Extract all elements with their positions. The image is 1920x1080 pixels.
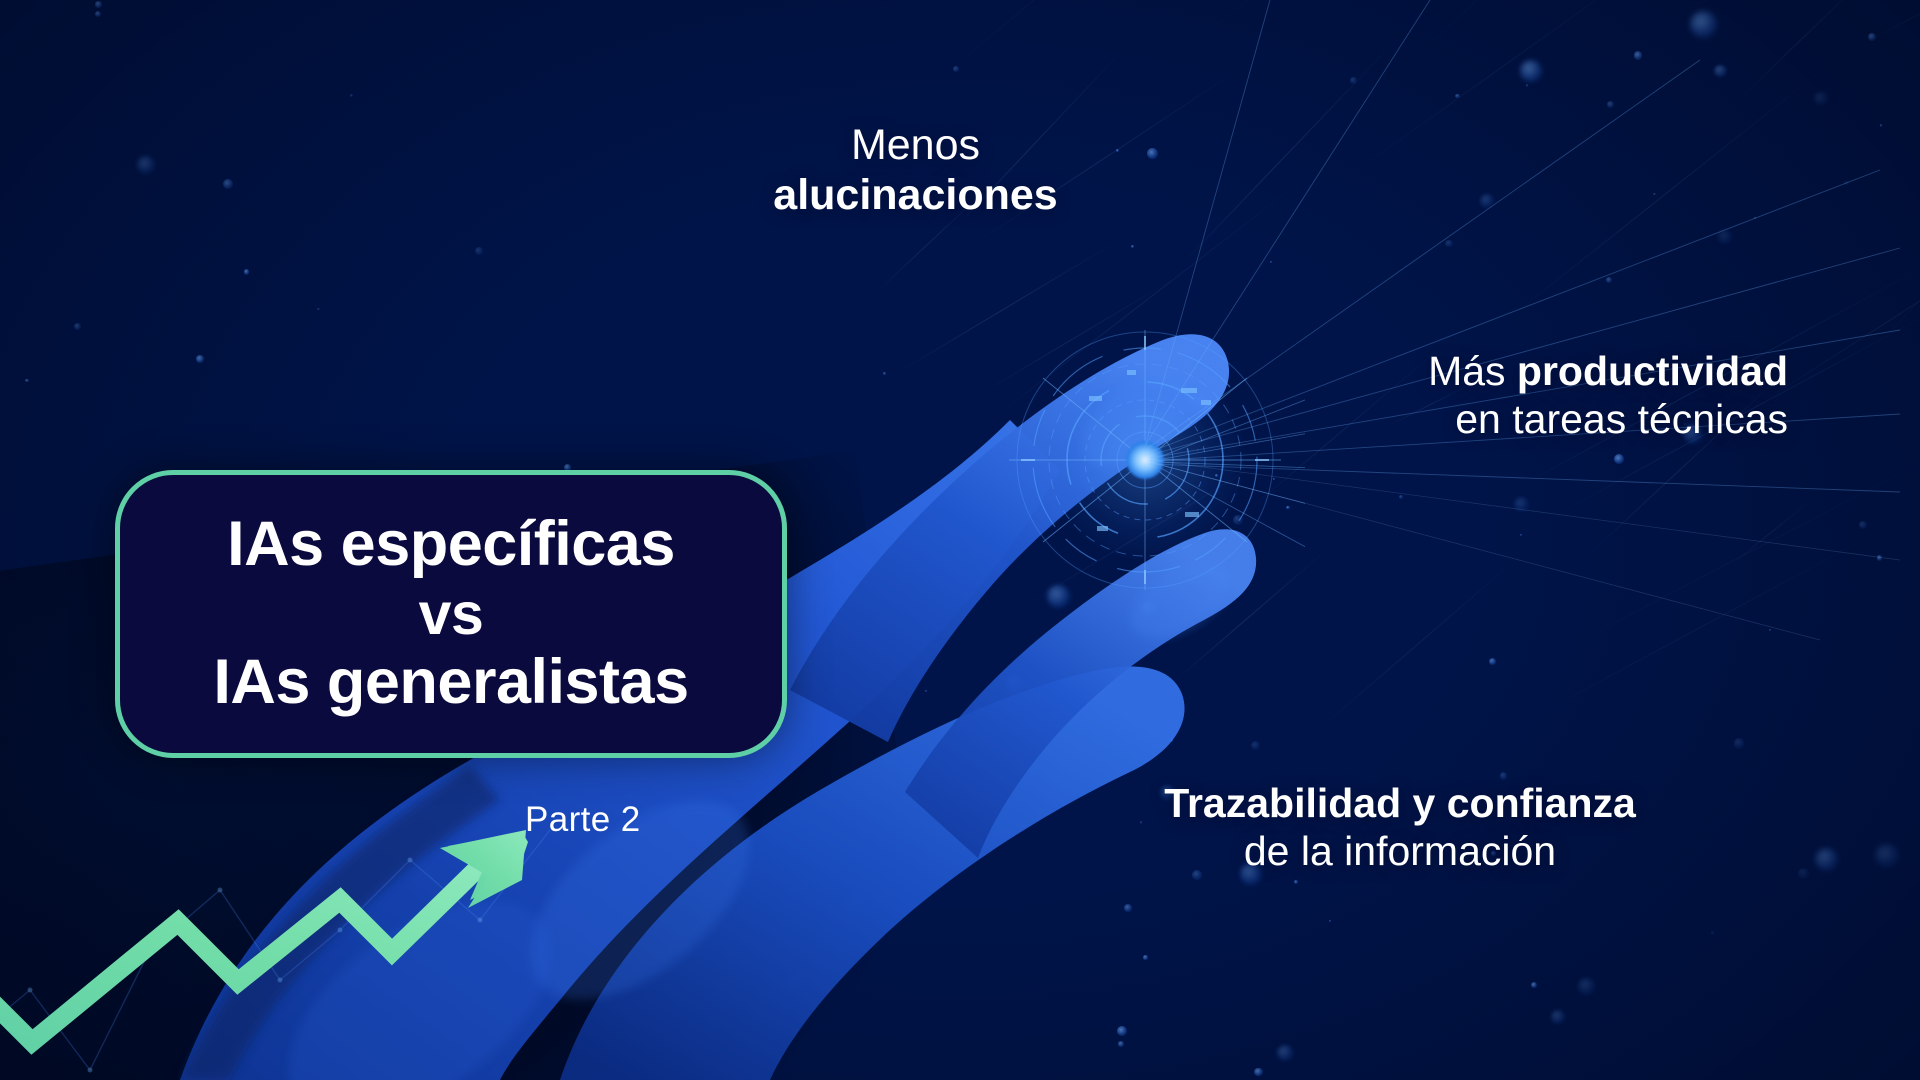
title-line-vs: vs bbox=[213, 581, 688, 648]
callout-productivity-line-2: en tareas técnicas bbox=[1428, 396, 1788, 444]
title-line-3: IAs generalistas bbox=[213, 647, 688, 718]
callout-traceability-line-1: Trazabilidad y confianza bbox=[1100, 780, 1700, 828]
callout-hallucinations-line-1: Menos bbox=[673, 120, 1158, 170]
callout-hallucinations-line-2: alucinaciones bbox=[673, 170, 1158, 220]
title-text-block: IAs específicas vs IAs generalistas bbox=[195, 509, 706, 718]
callout-productivity: Más productividad en tareas técnicas bbox=[1428, 348, 1788, 444]
title-card: IAs específicas vs IAs generalistas bbox=[115, 470, 787, 758]
callout-traceability-line-2: de la información bbox=[1100, 828, 1700, 876]
callout-traceability: Trazabilidad y confianza de la informaci… bbox=[1100, 780, 1700, 876]
callout-productivity-line-1: Más productividad bbox=[1428, 348, 1788, 396]
callout-hallucinations: Menos alucinaciones bbox=[673, 120, 1158, 221]
growth-arrow-icon bbox=[0, 760, 530, 1080]
hud-ring-graphic bbox=[985, 300, 1305, 620]
title-line-1: IAs específicas bbox=[213, 509, 688, 580]
part-label: Parte 2 bbox=[525, 800, 641, 840]
hud-core-glow bbox=[1126, 441, 1164, 479]
slide-canvas: IAs específicas vs IAs generalistas Part… bbox=[0, 0, 1920, 1080]
